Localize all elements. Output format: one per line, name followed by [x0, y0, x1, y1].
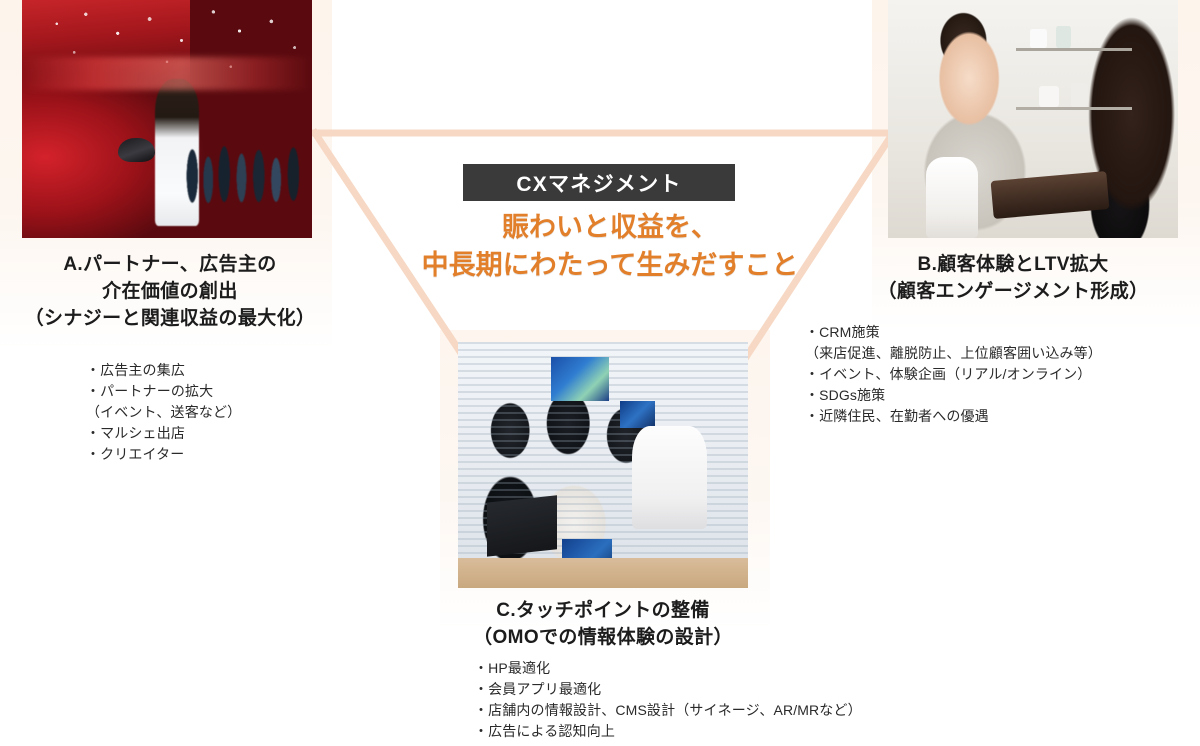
- photo-b-jar: [1030, 29, 1047, 48]
- cx-management-diagram: A.パートナー、広告主の 介在価値の創出 （シナジーと関連収益の最大化） ・広告…: [0, 0, 1200, 746]
- photo-c-desk: [458, 558, 748, 588]
- photo-b-jar: [1071, 83, 1088, 107]
- photo-a-crowd: [179, 119, 312, 214]
- photo-c-monitor: [632, 426, 707, 529]
- cx-management-badge: CXマネジメント: [463, 164, 735, 201]
- photo-b-bottle: [926, 157, 978, 238]
- photo-c-artwork: [551, 357, 609, 401]
- photo-b-shelf-upper: [1016, 48, 1132, 51]
- photo-b-tray: [991, 171, 1110, 219]
- node-c-title: C.タッチポイントの整備 （OMOでの情報体験の設計）: [443, 598, 763, 652]
- photo-a-car-mirror: [118, 138, 156, 162]
- creative-office-team-photo: [458, 342, 748, 588]
- node-a-bullets: ・広告主の集広 ・パートナーの拡大 （イベント、送客など） ・マルシェ出店 ・ク…: [86, 360, 356, 465]
- photo-c-artwork: [620, 401, 655, 428]
- node-b-bullets: ・CRM施策 （来店促進、離脱防止、上位顧客囲い込み等） ・イベント、体験企画（…: [805, 322, 1195, 427]
- cx-headline: 賑わいと収益を、 中長期にわたって生みだすこと: [380, 208, 840, 285]
- node-c-bullets: ・HP最適化 ・会員アプリ最適化 ・店舗内の情報設計、CMS設計（サイネージ、A…: [474, 658, 944, 742]
- photo-b-shelf-lower: [1016, 107, 1132, 110]
- node-b-title: B.顧客体験とLTV拡大 （顧客エンゲージメント形成）: [843, 252, 1183, 306]
- photo-b-jar: [1039, 86, 1059, 107]
- node-a-title: A.パートナー、広告主の 介在価値の創出 （シナジーと関連収益の最大化）: [10, 252, 330, 333]
- photo-b-jar: [1056, 26, 1071, 47]
- auto-show-exhibition-photo: [22, 0, 312, 238]
- salon-customer-service-photo: [888, 0, 1178, 238]
- photo-c-laptop: [487, 496, 557, 557]
